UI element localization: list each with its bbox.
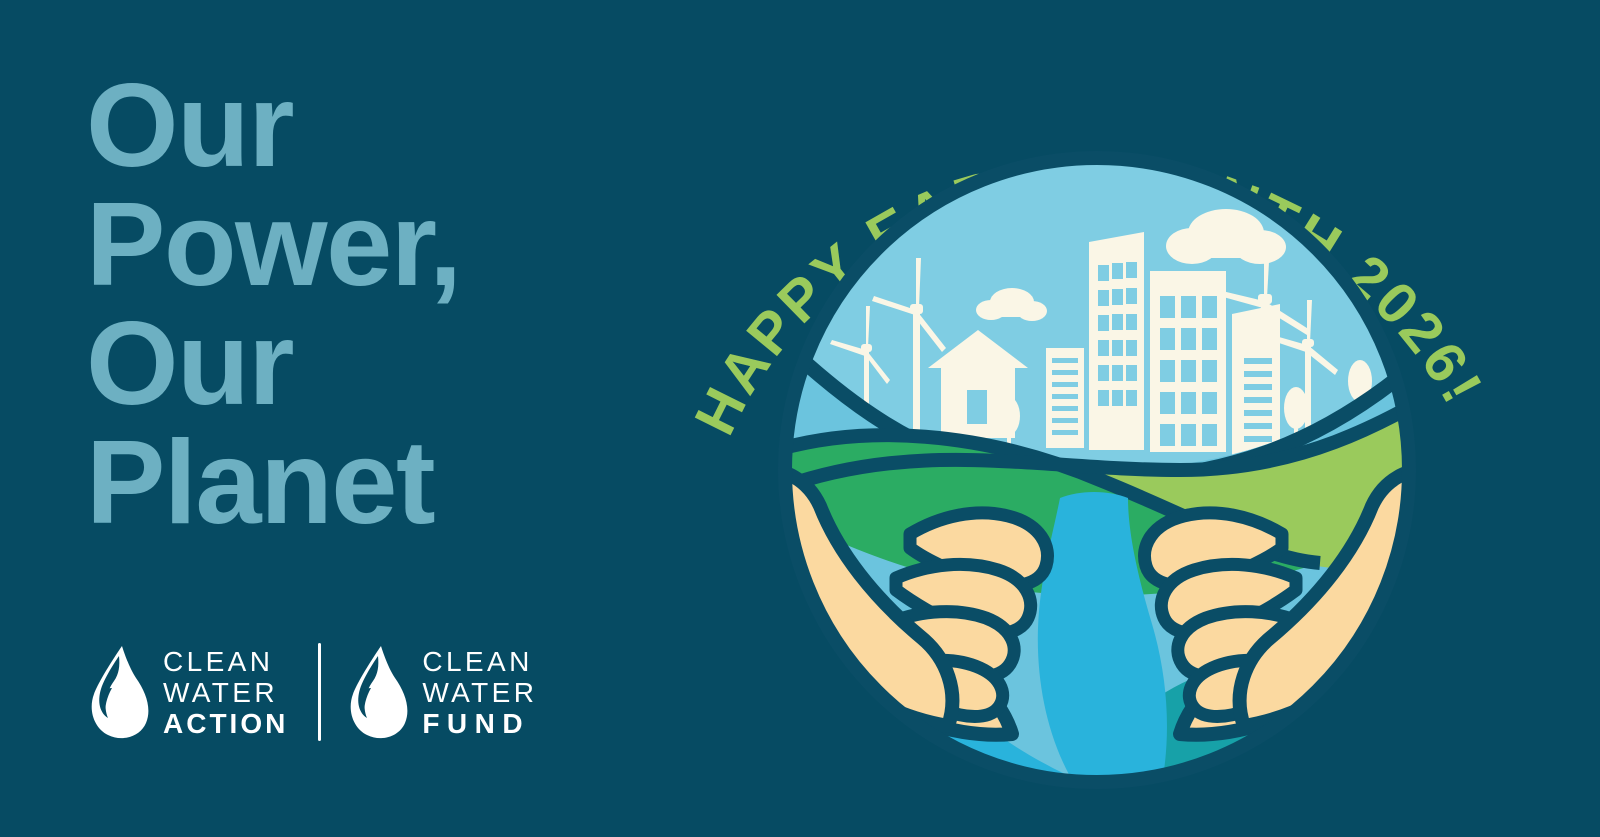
logo-line-clean: CLEAN [163,646,288,677]
clean-water-action-wordmark: CLEAN WATER ACTION [163,644,288,740]
logo-line-water: WATER [163,677,288,708]
building [1150,271,1226,452]
logo-lockup: CLEAN WATER ACTION CLEAN WATER FUND [88,636,537,748]
logo-line-water: WATER [422,677,537,708]
building [1089,232,1144,450]
clean-water-action-logo[interactable]: CLEAN WATER ACTION [88,642,288,742]
logo-line-clean: CLEAN [422,646,537,677]
headline-line-2: Power, [86,185,646,304]
logo-line-action: ACTION [163,708,288,739]
water-drop-icon [88,644,150,740]
clean-water-fund-logo[interactable]: CLEAN WATER FUND [347,642,537,742]
logo-line-fund: FUND [422,708,537,739]
building [1238,348,1278,454]
page-title: Our Power, Our Planet [86,66,646,542]
logo-divider [318,643,321,741]
house-window [967,390,987,424]
headline-line-3: Our [86,304,646,423]
headline-line-1: Our [86,66,646,185]
earth-month-emblem: HAPPY EARTH MONTH 2026! [660,18,1520,818]
headline-line-4: Planet [86,423,646,542]
clean-water-fund-wordmark: CLEAN WATER FUND [422,644,537,740]
water-drop-icon [347,644,409,740]
earth-month-banner: Our Power, Our Planet CLEAN WATER ACTION [0,0,1600,837]
building [1046,348,1084,448]
